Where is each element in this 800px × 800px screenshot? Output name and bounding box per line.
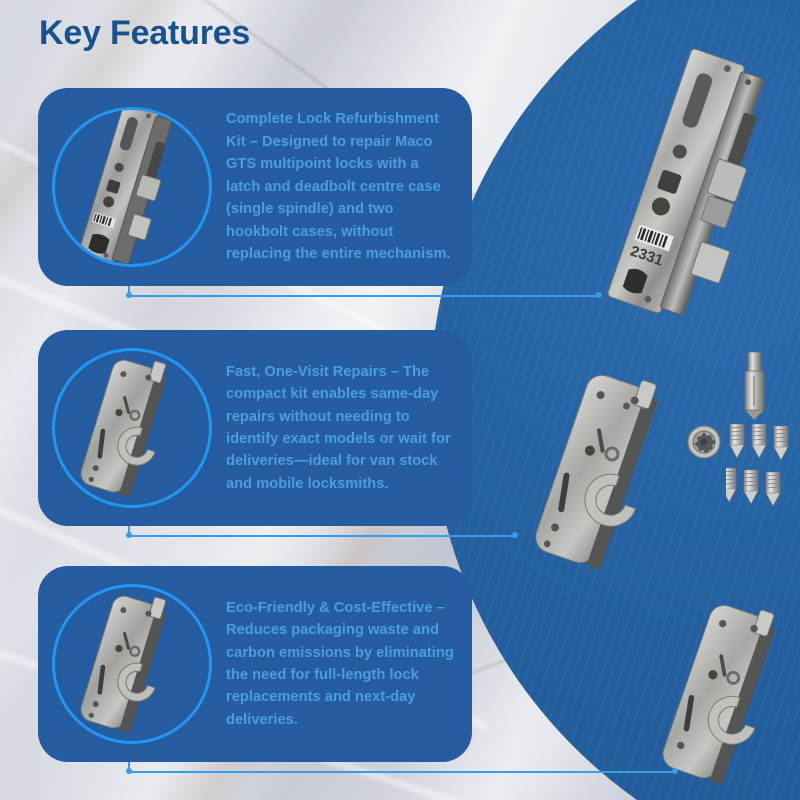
- infographic-page: 2331: [0, 0, 800, 800]
- product-image-torx-screw-head: [686, 424, 722, 465]
- connector-dot-start: [126, 768, 132, 774]
- connector-dot-end: [512, 532, 518, 538]
- feature-2-text: Fast, One-Visit Repairs – The compact ki…: [226, 361, 456, 496]
- product-image-hookbolt-case-upper: [512, 352, 692, 607]
- feature-1-thumb: [52, 107, 212, 267]
- page-title: Key Features: [39, 14, 250, 53]
- hookbolt-case-lock-icon: [52, 348, 212, 508]
- connector-dot-end: [596, 292, 602, 298]
- feature-2-thumb: [52, 348, 212, 508]
- feature-3-text: Eco-Friendly & Cost-Effective – Reduces …: [226, 597, 456, 732]
- product-image-centre-case-gearbox: 2331: [588, 40, 798, 345]
- connector-dot-start: [126, 532, 132, 538]
- connector-dot-end: [672, 768, 678, 774]
- feature-3-thumb: [52, 584, 212, 744]
- product-image-fixing-screws: [726, 424, 800, 529]
- feature-1-text: Complete Lock Refurbishment Kit – Design…: [226, 108, 456, 265]
- hookbolt-case-lock-icon: [52, 584, 212, 744]
- centre-case-lock-icon: [52, 107, 212, 267]
- feature-card-3[interactable]: Eco-Friendly & Cost-Effective – Reduces …: [38, 566, 472, 762]
- connector-dot-start: [126, 292, 132, 298]
- feature-card-2[interactable]: Fast, One-Visit Repairs – The compact ki…: [38, 330, 472, 526]
- product-image-hex-driver-bit: [738, 350, 772, 427]
- feature-card-1[interactable]: Complete Lock Refurbishment Kit – Design…: [38, 88, 472, 286]
